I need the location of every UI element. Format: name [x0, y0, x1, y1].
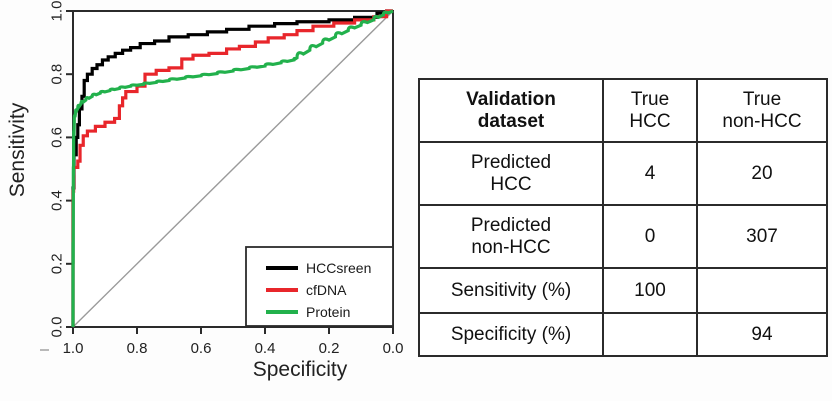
row-label-line-2: non-HCC — [422, 237, 600, 258]
figure-root: 1.00.80.60.40.20.0 0.00.20.40.60.81.0 Sp… — [0, 0, 832, 401]
table-row: Predicted non-HCC 0 307 — [419, 205, 827, 268]
roc-chart-svg: 1.00.80.60.40.20.0 0.00.20.40.60.81.0 Sp… — [0, 0, 410, 401]
cell-specificity-empty — [603, 313, 697, 356]
x-tick-label: 1.0 — [63, 340, 84, 357]
table-header-row: Validation dataset True HCC True non-HCC — [419, 79, 827, 142]
roc-chart-panel: 1.00.80.60.40.20.0 0.00.20.40.60.81.0 Sp… — [0, 0, 410, 401]
row-label-sensitivity: Sensitivity (%) — [419, 268, 603, 313]
roc-legend: HCCsreencfDNAProtein — [246, 247, 393, 326]
row-label-line-2: HCC — [422, 174, 600, 195]
y-axis-title: Sensitivity — [6, 102, 29, 197]
legend-label-cfdna: cfDNA — [306, 282, 347, 298]
header-true-non-hcc-line-1: True — [700, 89, 824, 110]
y-axis-tick-labels: 0.00.20.40.60.81.0 — [49, 1, 66, 338]
stray-artifact-mark — [40, 349, 49, 351]
header-cell-true-non-hcc: True non-HCC — [697, 79, 827, 142]
header-cell-validation-dataset: Validation dataset — [419, 79, 603, 142]
header-true-non-hcc-line-2: non-HCC — [700, 111, 824, 132]
row-label-specificity: Specificity (%) — [419, 313, 603, 356]
y-tick-label: 0.0 — [49, 317, 66, 338]
x-axis-title: Specificity — [253, 358, 348, 381]
row-label-line-1: Predicted — [422, 215, 600, 236]
y-tick-label: 0.4 — [49, 190, 66, 211]
header-cell-true-hcc: True HCC — [603, 79, 697, 142]
x-tick-label: 0.6 — [191, 340, 212, 357]
x-axis-tick-labels: 1.00.80.60.40.20.0 — [63, 340, 404, 357]
table-row: Sensitivity (%) 100 — [419, 268, 827, 313]
header-line-1: Validation — [422, 89, 600, 110]
table-row: Specificity (%) 94 — [419, 313, 827, 356]
legend-label-hccsreen: HCCsreen — [306, 260, 371, 276]
cell-predicted-hcc-true-hcc: 4 — [603, 142, 697, 205]
cell-predicted-non-hcc-true-non-hcc: 307 — [697, 205, 827, 268]
validation-table-panel: Validation dataset True HCC True non-HCC… — [418, 78, 808, 327]
cell-sensitivity-value: 100 — [603, 268, 697, 313]
header-true-hcc-line-2: HCC — [606, 111, 694, 132]
y-tick-label: 0.8 — [49, 64, 66, 85]
x-tick-label: 0.4 — [255, 340, 276, 357]
x-tick-label: 0.8 — [127, 340, 148, 357]
y-tick-label: 1.0 — [49, 1, 66, 22]
row-label-line-1: Predicted — [422, 152, 600, 173]
cell-predicted-hcc-true-non-hcc: 20 — [697, 142, 827, 205]
row-label-predicted-hcc: Predicted HCC — [419, 142, 603, 205]
row-label-predicted-non-hcc: Predicted non-HCC — [419, 205, 603, 268]
x-tick-label: 0.0 — [383, 340, 404, 357]
cell-predicted-non-hcc-true-hcc: 0 — [603, 205, 697, 268]
cell-sensitivity-empty — [697, 268, 827, 313]
cell-specificity-value: 94 — [697, 313, 827, 356]
table-row: Predicted HCC 4 20 — [419, 142, 827, 205]
x-axis-ticks — [73, 327, 393, 334]
validation-dataset-table: Validation dataset True HCC True non-HCC… — [418, 78, 828, 357]
y-tick-label: 0.6 — [49, 127, 66, 148]
legend-label-protein: Protein — [306, 304, 350, 320]
x-tick-label: 0.2 — [319, 340, 340, 357]
y-tick-label: 0.2 — [49, 253, 66, 274]
header-true-hcc-line-1: True — [606, 89, 694, 110]
header-line-2: dataset — [422, 111, 600, 132]
